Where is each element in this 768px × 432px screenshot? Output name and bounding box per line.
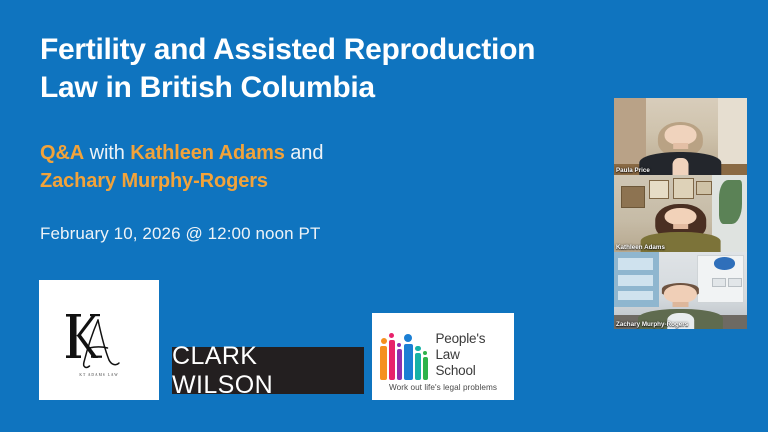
- video-tile-zachary-murphy-rogers[interactable]: Zachary Murphy-Rogers: [614, 252, 747, 329]
- participant-name: Zachary Murphy-Rogers: [616, 321, 688, 328]
- page-title-line-2: Law in British Columbia: [40, 69, 660, 107]
- ka-monogram-icon: [62, 310, 136, 372]
- clark-wilson-wordmark: CLARK WILSON: [172, 342, 364, 400]
- subtitle-line-2: Zachary Murphy-Rogers: [40, 167, 600, 195]
- with-label: with: [84, 142, 130, 164]
- logo-peoples-law-school: People's Law School Work out life's lega…: [372, 313, 514, 400]
- logo-clark-wilson: CLARK WILSON: [172, 347, 364, 394]
- webinar-promo-slide: Fertility and Assisted Reproduction Law …: [0, 0, 768, 432]
- peoples-law-school-figures-icon: [380, 330, 428, 380]
- video-tile-kathleen-adams[interactable]: Kathleen Adams: [614, 175, 747, 252]
- participant-name: Kathleen Adams: [616, 244, 665, 251]
- page-title-line-1: Fertility and Assisted Reproduction: [40, 31, 660, 69]
- figure-1: [380, 338, 387, 380]
- figure-5: [415, 346, 422, 380]
- figure-4: [404, 334, 413, 380]
- video-tile-paula-price[interactable]: Paula Price: [614, 98, 747, 175]
- pls-line-2: Law: [436, 347, 486, 363]
- speaker-name-2: Zachary Murphy-Rogers: [40, 170, 268, 192]
- and-label: and: [285, 142, 324, 164]
- figure-2: [389, 333, 395, 380]
- pls-line-3: School: [436, 363, 486, 379]
- speaker-name-1: Kathleen Adams: [130, 142, 285, 164]
- figure-6: [423, 351, 428, 380]
- figure-3: [397, 343, 402, 380]
- peoples-law-school-wordmark: People's Law School: [436, 331, 486, 379]
- logo-ka-adams-law: KT ADAMS LAW: [39, 280, 159, 400]
- pls-line-1: People's: [436, 331, 486, 347]
- peoples-law-school-tagline: Work out life's legal problems: [380, 383, 506, 392]
- subtitle-line-1: Q&A with Kathleen Adams and: [40, 139, 600, 167]
- ka-logo-subtext: KT ADAMS LAW: [79, 373, 118, 377]
- participant-name: Paula Price: [616, 167, 650, 174]
- page-title: Fertility and Assisted Reproduction Law …: [40, 31, 660, 107]
- video-call-grid: Paula Price Kathleen Adams: [614, 98, 747, 329]
- subtitle: Q&A with Kathleen Adams and Zachary Murp…: [40, 139, 600, 196]
- qa-label: Q&A: [40, 142, 84, 164]
- event-datetime: February 10, 2026 @ 12:00 noon PT: [40, 224, 320, 244]
